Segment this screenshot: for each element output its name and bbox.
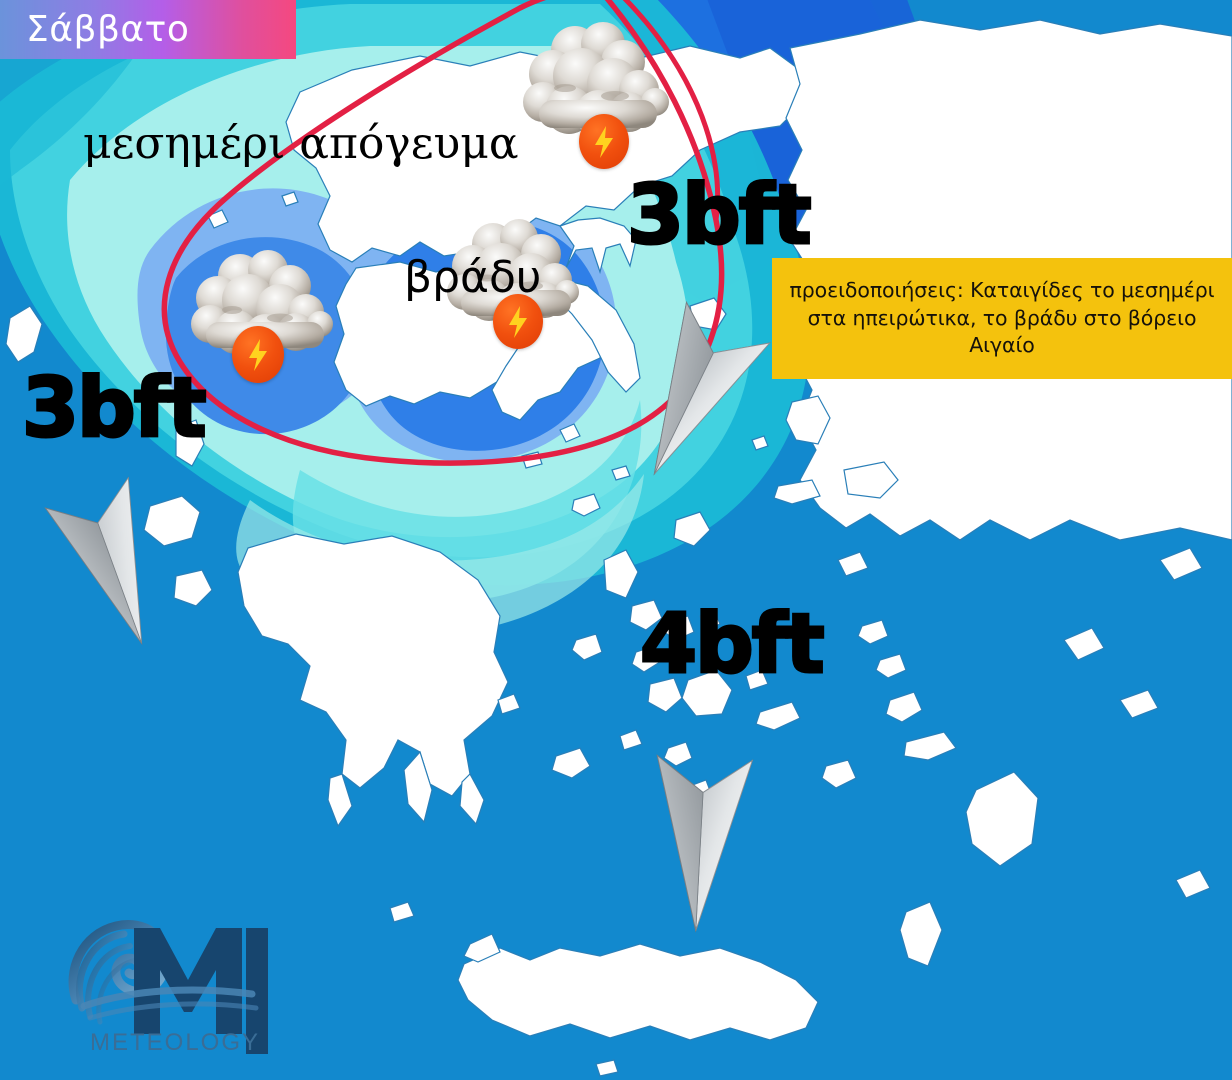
wind-force-label-west: 3bft (22, 371, 205, 446)
time-label-noon-afternoon: μεσημέρι απόγευμα (83, 118, 519, 169)
meteology-logo: METEOLOGY (60, 908, 300, 1058)
day-banner: Σάββατο (0, 0, 296, 59)
thunderstorm-badge-icon (579, 114, 629, 169)
time-label-evening: βράδυ (404, 252, 541, 303)
wind-force-label-northeast: 3bft (627, 178, 810, 253)
thunderstorm-badge-icon (232, 326, 284, 383)
wind-arrow-southeast (648, 756, 752, 934)
weather-map-infographic: μεσημέρι απόγευμα βράδυ 3bft 3bft 4bft Σ… (0, 0, 1232, 1080)
warnings-text: προειδοποιήσεις: Καταιγίδες το μεσημέρι … (772, 277, 1232, 359)
wind-arrow-northeast (613, 303, 770, 495)
storm-cloud-icon-west (188, 248, 338, 378)
logo-letter-m (134, 928, 242, 1034)
wind-arrow-west (46, 478, 183, 658)
day-label: Σάββατο (0, 12, 189, 48)
wind-force-label-southeast: 4bft (640, 607, 823, 682)
logo-brand-text: METEOLOGY (90, 1029, 260, 1056)
warnings-box: προειδοποιήσεις: Καταιγίδες το μεσημέρι … (772, 258, 1232, 379)
storm-cloud-icon-north (519, 18, 669, 158)
